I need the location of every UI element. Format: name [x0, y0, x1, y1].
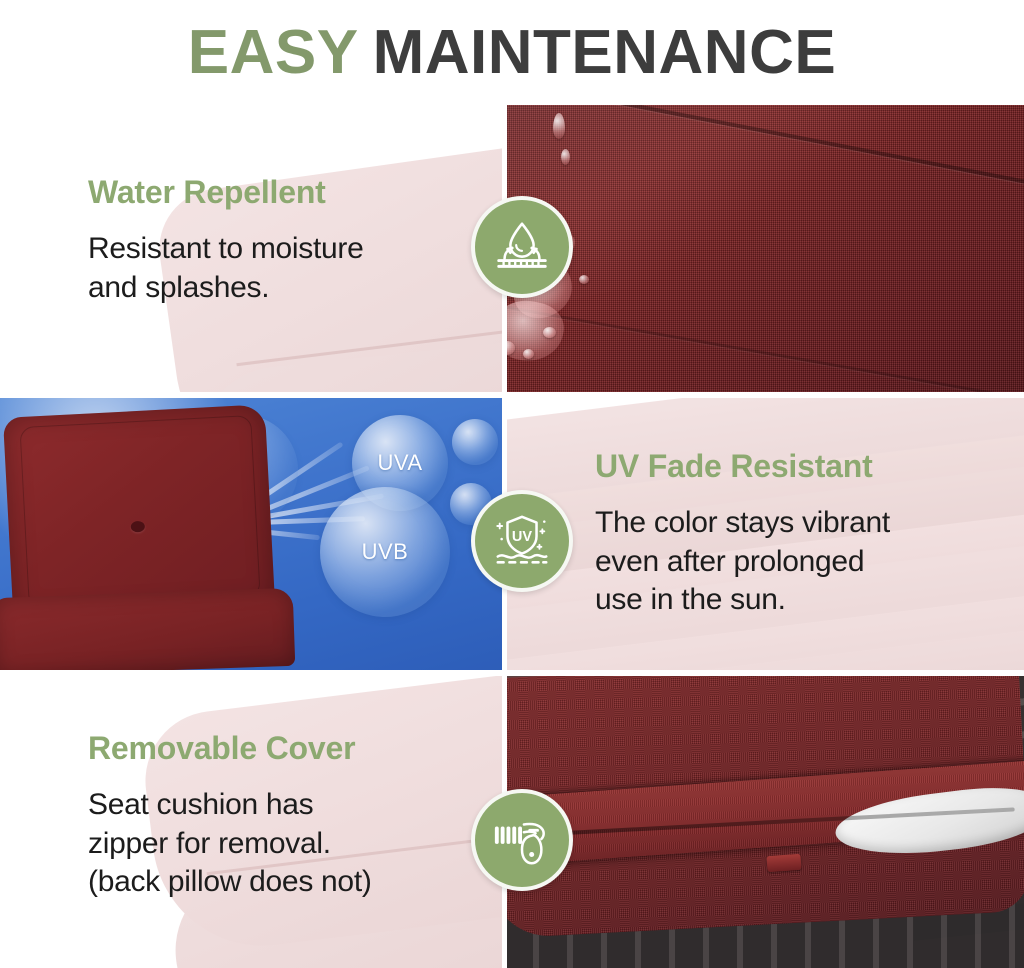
water-droplet-repel-icon: [471, 196, 573, 298]
feature-text-block: UV Fade Resistant The color stays vibran…: [505, 397, 1024, 619]
feature-text-block: Removable Cover Seat cushion has zipper …: [0, 675, 505, 901]
feature-text-panel-water-repellent: Water Repellent Resistant to moisture an…: [0, 105, 505, 397]
row-divider-1: [0, 392, 1024, 398]
page-title-main: MAINTENANCE: [373, 18, 837, 87]
bubble-uvb: UVB: [320, 487, 450, 617]
feature-title-uv-fade: UV Fade Resistant: [595, 449, 1024, 484]
page-header: EASYMAINTENANCE: [0, 0, 1024, 105]
feature-title-removable-cover: Removable Cover: [88, 731, 505, 766]
feature-text-panel-removable-cover: Removable Cover Seat cushion has zipper …: [0, 675, 505, 968]
cushion-back-pillow: [3, 404, 275, 617]
bubble-label-uvb: UVB: [362, 539, 409, 565]
cushion-seat: [0, 588, 295, 675]
page-title-accent: EASY: [188, 18, 359, 87]
feature-photo-removable-cover: [505, 675, 1024, 968]
svg-text:UV: UV: [512, 529, 532, 545]
feature-text-panel-uv-fade: UV Fade Resistant The color stays vibran…: [505, 397, 1024, 675]
feature-photo-water-repellent: [505, 105, 1024, 397]
uv-shield-icon: UV: [471, 490, 573, 592]
red-cushion-zipper-foam-photo: [505, 675, 1024, 968]
feature-text-block: Water Repellent Resistant to moisture an…: [0, 105, 505, 307]
feature-photo-uv-fade: UVA UVB: [0, 397, 505, 675]
page-title: EASYMAINTENANCE: [188, 22, 836, 84]
red-cushion-chair-uv-rays-photo: UVA UVB: [0, 397, 505, 675]
infographic-page: EASYMAINTENANCE Water Repellent Resistan…: [0, 0, 1024, 968]
feature-title-water-repellent: Water Repellent: [88, 175, 505, 210]
row-divider-2: [0, 670, 1024, 676]
feature-description-removable-cover: Seat cushion has zipper for removal. (ba…: [88, 786, 505, 901]
zipper-pull-icon: [471, 789, 573, 891]
bubble-small-top: [452, 419, 498, 465]
zipper-slider: [766, 854, 801, 872]
red-fabric-water-droplets-photo: [505, 105, 1024, 397]
bubble-label-uva: UVA: [377, 450, 422, 476]
feature-description-uv-fade: The color stays vibrant even after prolo…: [595, 504, 1024, 619]
feature-description-water-repellent: Resistant to moisture and splashes.: [88, 230, 505, 307]
